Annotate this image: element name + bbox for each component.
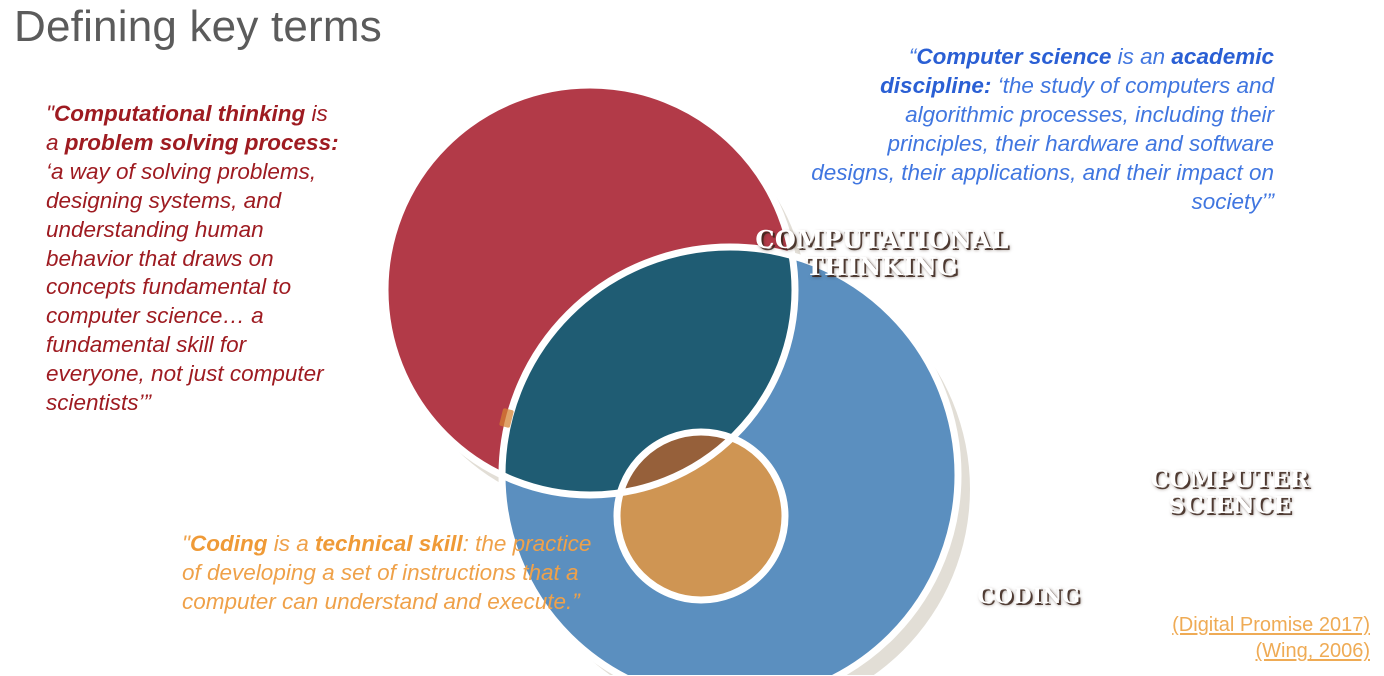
quote-ct-bold-term: Computational thinking <box>54 101 305 126</box>
quote-coding: "Coding is a technical skill: the practi… <box>182 530 602 617</box>
citation-link-digital-promise[interactable]: (Digital Promise 2017) <box>1070 612 1370 638</box>
quote-ct-body: ‘a way of solving problems, designing sy… <box>46 159 324 415</box>
page-title: Defining key terms <box>14 2 382 52</box>
quote-cs-bold-term: Computer science <box>916 44 1111 69</box>
quote-coding-bold-phrase: technical skill <box>315 531 463 556</box>
quote-coding-open-quote: " <box>182 531 190 556</box>
citation-list: (Digital Promise 2017) (Wing, 2006) <box>1070 612 1370 665</box>
quote-computational-thinking: "Computational thinking is a problem sol… <box>46 100 346 418</box>
venn-label-computer-science: COMPUTERSCIENCE <box>1120 467 1340 519</box>
quote-ct-open-quote: " <box>46 101 54 126</box>
quote-computer-science: “Computer science is an academic discipl… <box>806 43 1274 216</box>
quote-coding-bold-term: Coding <box>190 531 267 556</box>
quote-cs-connector: is an <box>1111 44 1171 69</box>
quote-ct-bold-phrase: problem solving process: <box>65 130 339 155</box>
citation-link-wing[interactable]: (Wing, 2006) <box>1070 638 1370 664</box>
quote-coding-connector: is a <box>267 531 315 556</box>
